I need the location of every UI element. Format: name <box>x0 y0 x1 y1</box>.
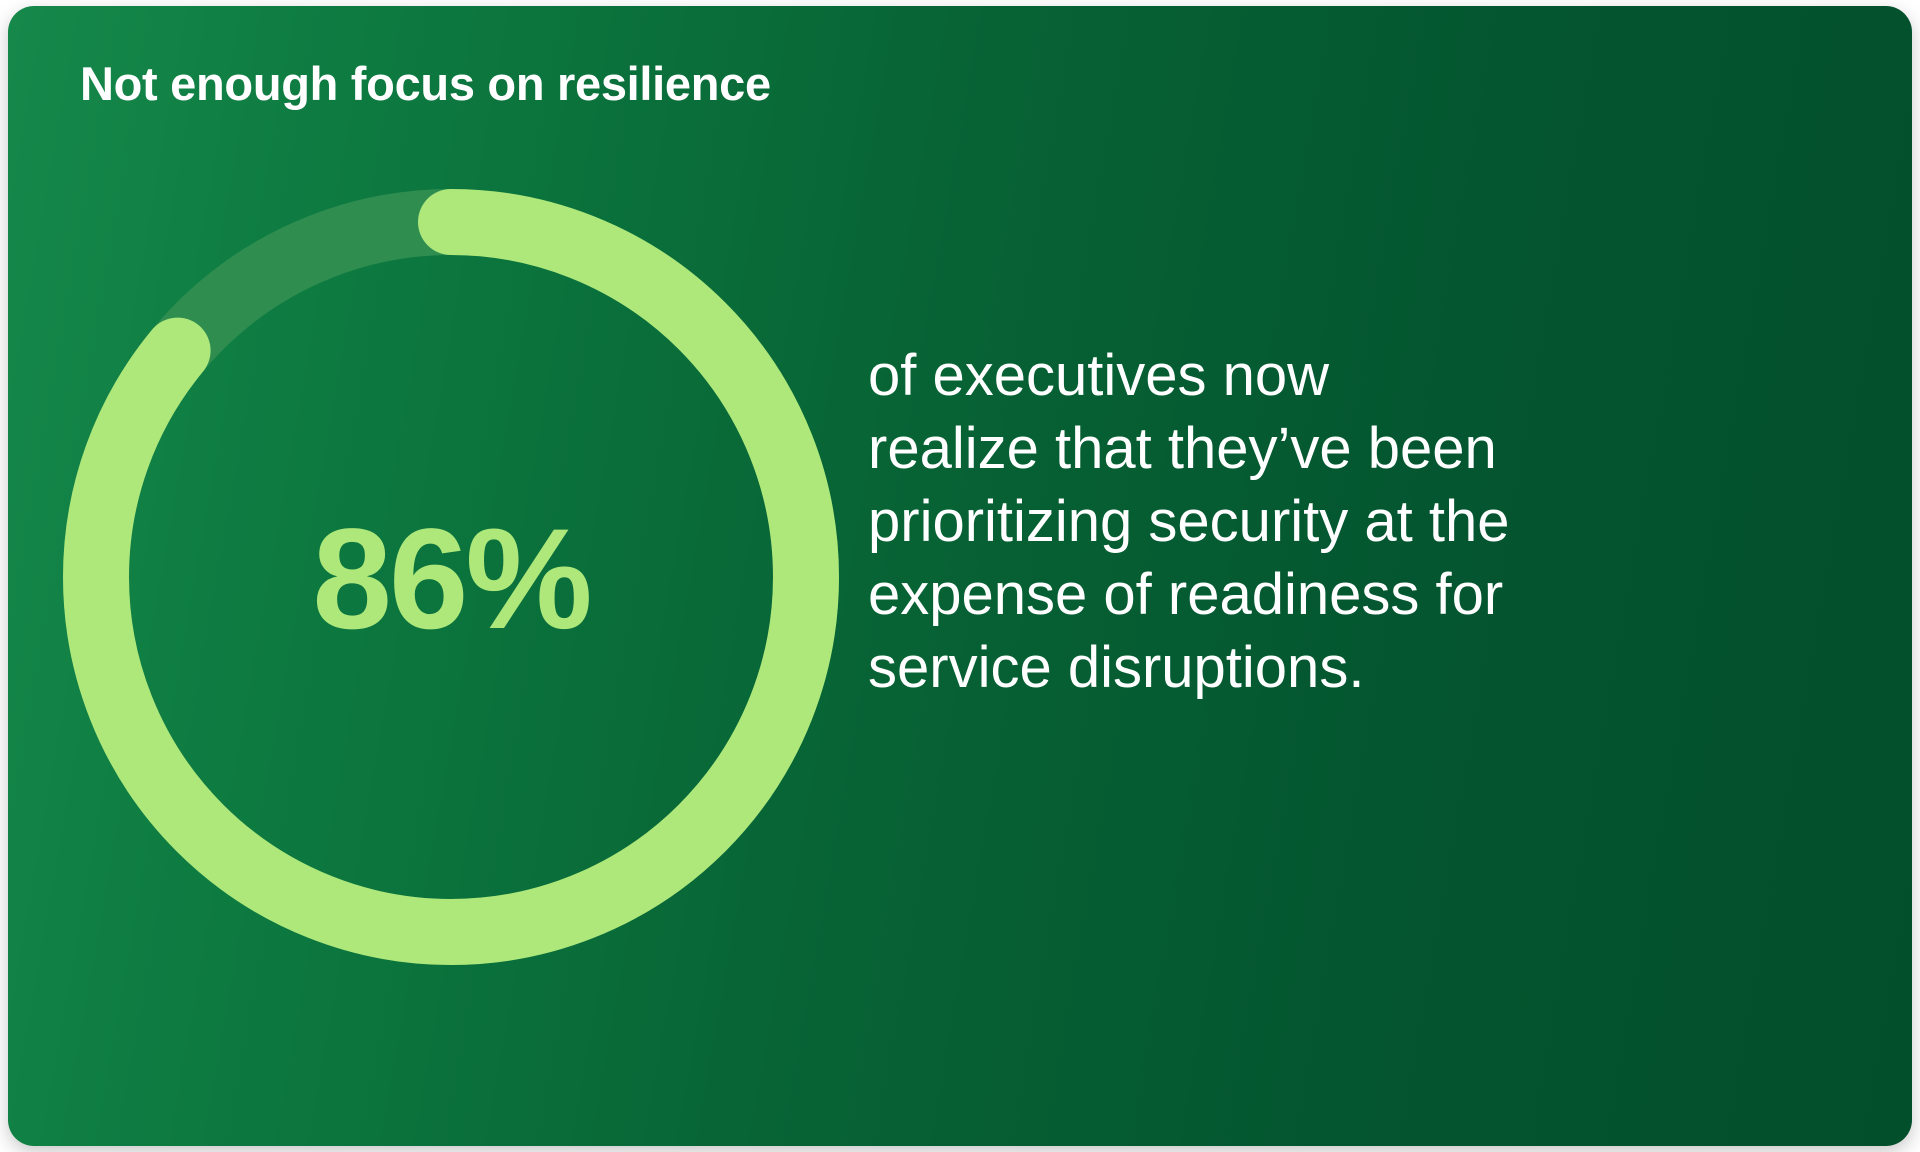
donut-chart-svg <box>56 158 846 996</box>
screenshot-canvas: Not enough focus on resilience 86% of ex… <box>0 0 1920 1152</box>
body-copy-line: expense of readiness for <box>868 558 1548 631</box>
body-copy-line: prioritizing security at the <box>868 485 1548 558</box>
body-copy: of executives now realize that they’ve b… <box>868 339 1548 704</box>
donut-chart: 86% <box>56 158 846 996</box>
body-copy-line: realize that they’ve been <box>868 412 1548 485</box>
body-copy-line: service disruptions. <box>868 631 1548 704</box>
body-copy-line: of executives now <box>868 339 1548 412</box>
stat-card: Not enough focus on resilience 86% of ex… <box>8 6 1912 1146</box>
donut-value-arc <box>96 222 806 932</box>
page-title: Not enough focus on resilience <box>80 56 771 111</box>
